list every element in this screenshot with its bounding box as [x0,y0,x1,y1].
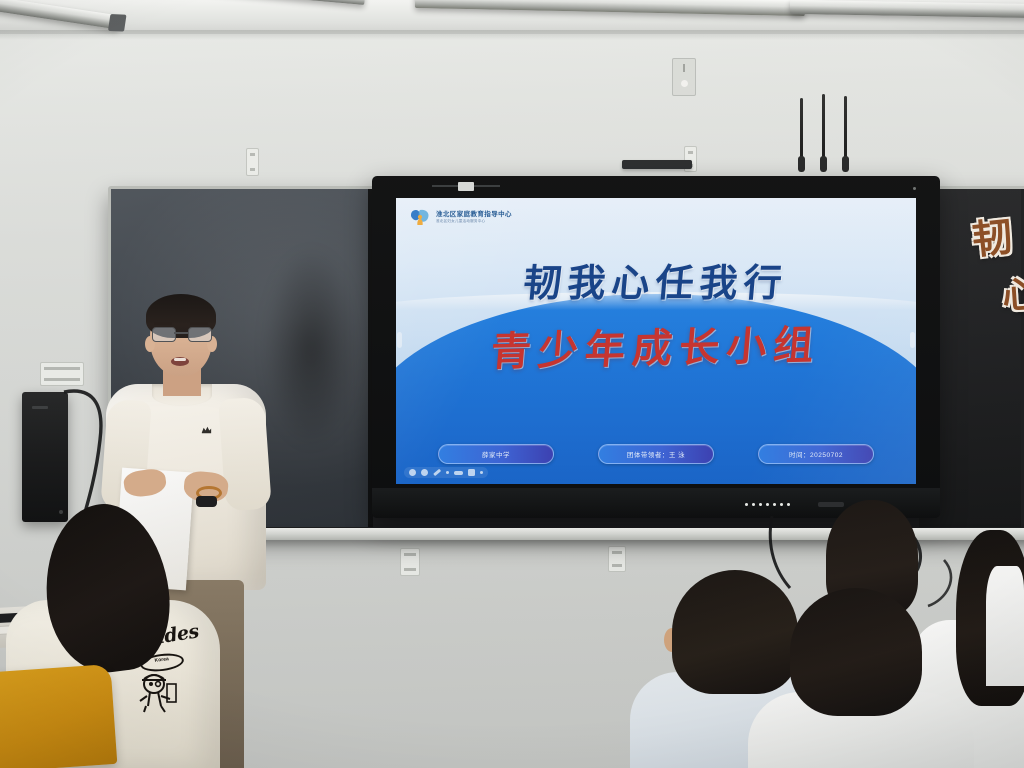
presentation-slide[interactable]: 淮北区家庭教育指导中心 淮北区妇女儿童活动服务中心 韧我心任我行 青少年成长小组… [396,198,916,484]
student-hair [672,570,798,694]
glasses-bridge [174,332,188,334]
slide-nav-left-icon[interactable] [397,332,402,348]
glasses-icon [152,327,210,340]
more-icon[interactable] [480,471,483,474]
indicator-led [913,187,916,190]
tshirt-cartoon-icon [134,670,182,714]
ir-receiver-bar [622,160,692,169]
camera-icon [458,182,474,191]
heart-figure-logo-icon [408,206,432,230]
delete-icon[interactable] [468,469,475,476]
presenter-eyebrow [190,322,208,325]
papercut-character: 韧 [969,204,1015,266]
interactive-smart-display[interactable]: 淮北区家庭教育指导中心 淮北区妇女儿童活动服务中心 韧我心任我行 青少年成长小组… [372,176,940,518]
organization-logo: 淮北区家庭教育指导中心 淮北区妇女儿童活动服务中心 [408,206,512,230]
organization-subname: 淮北区妇女儿童活动服务中心 [436,220,512,224]
wall-sensor-plate [672,58,696,96]
slide-subtitle: 青少年成长小组 [396,311,916,380]
wall-outlet[interactable] [246,148,259,176]
display-indicator-dots [745,503,790,506]
device-led [59,510,63,514]
blackboard-shadow [257,244,377,474]
slide-title: 韧我心任我行 [396,252,916,307]
slide-toolbar[interactable] [404,467,488,478]
presenter-eyebrow [154,322,172,325]
pen-icon[interactable] [433,469,441,476]
sensor-dot [681,80,688,87]
wall-outlet[interactable] [40,362,84,386]
circle-icon[interactable] [421,469,428,476]
wall-outlet[interactable] [608,546,626,572]
student-hair [790,588,922,716]
display-brand-badge [818,502,844,507]
organization-name: 淮北区家庭教育指导中心 [436,212,512,219]
wall-outlet[interactable] [400,548,420,576]
dot-icon[interactable] [446,471,449,474]
badge-facilitator: 团体带领者：王 泳 [598,444,714,464]
antenna [800,98,803,170]
glasses-lens [152,327,176,342]
slide-info-badges: 薛家中学 团体带领者：王 泳 时间：20250702 [396,444,916,464]
glasses-lens [188,327,212,342]
slide-nav-right-icon[interactable] [910,332,915,348]
presenter-mouth [171,357,189,366]
badge-date: 时间：20250702 [758,444,874,464]
eraser-icon[interactable] [454,471,463,475]
presenter-watch [196,496,217,507]
organization-text: 淮北区家庭教育指导中心 淮北区妇女儿童活动服务中心 [436,212,512,224]
sensor-slit [683,64,685,72]
ceiling-shadow [0,30,1024,40]
badge-school: 薛家中学 [438,444,554,464]
shirt-logo-icon [200,424,213,437]
classroom-photo: 韧 心 淮北区家庭教育指导中心 淮北区妇 [0,0,1024,768]
record-icon[interactable] [409,469,416,476]
classroom-chair [0,664,117,768]
student-far-right [986,566,1024,686]
wall-mounted-speaker [22,392,68,522]
papercut-character: 心 [1000,265,1024,319]
antenna [822,94,825,170]
antenna [844,96,847,170]
device-label [32,406,48,409]
